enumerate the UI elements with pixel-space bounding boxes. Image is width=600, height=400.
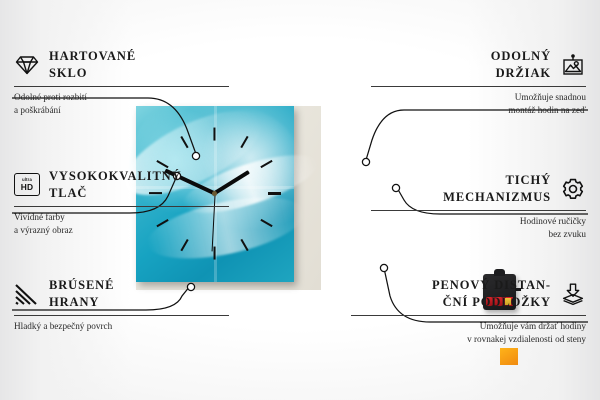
feature-description: Hladký a bezpečný povrch xyxy=(14,320,229,333)
clock-tick xyxy=(240,239,248,251)
divider xyxy=(14,86,229,87)
feature-title: ODOLNÝ DRŽIAK xyxy=(491,48,551,81)
feature-description: Umožňuje snadnou montáž hodin na zeď xyxy=(371,91,586,117)
clock-tick xyxy=(213,127,215,140)
feature-high-quality-print: ultra HD VYSOKOKVALITNÝ TLAČ Vivídné far… xyxy=(14,168,229,237)
divider xyxy=(14,315,229,316)
feature-header: ODOLNÝ DRŽIAK xyxy=(371,48,586,81)
clock-tick xyxy=(260,219,272,227)
connector-dot-durable-hanger xyxy=(362,158,369,165)
framed-picture-icon xyxy=(560,53,586,77)
feature-title: VYSOKOKVALITNÝ TLAČ xyxy=(49,168,182,201)
press-layers-icon xyxy=(560,282,586,306)
feature-header: PENOVÝ DISTAN- ČNÍ PODLOŽKY xyxy=(351,277,586,310)
clock-tick xyxy=(268,192,281,194)
diamond-icon xyxy=(14,53,40,77)
clock-tick xyxy=(157,160,169,168)
feature-description: Umožňuje vám držať hodiny v rovnakej vzd… xyxy=(351,320,586,346)
feature-title: TICHÝ MECHANIZMUS xyxy=(443,172,551,205)
feature-silent-mechanism: TICHÝ MECHANIZMUS Hodinové ručičky bez z… xyxy=(371,172,586,241)
infographic-canvas: HARTOVANÉ SKLO Odolné proti rozbití a po… xyxy=(0,0,600,400)
feature-header: BRÚSENÉ HRANY xyxy=(14,277,229,310)
feature-tempered-glass: HARTOVANÉ SKLO Odolné proti rozbití a po… xyxy=(14,48,229,117)
clock-tick xyxy=(213,246,215,259)
connector-dot-foam-spacers xyxy=(380,264,387,271)
divider xyxy=(14,206,229,207)
feature-header: ultra HD VYSOKOKVALITNÝ TLAČ xyxy=(14,168,229,201)
diagonal-stripes-icon xyxy=(14,282,40,306)
feature-foam-spacers: PENOVÝ DISTAN- ČNÍ PODLOŽKY Umožňuje vám… xyxy=(351,277,586,346)
clock-tick xyxy=(240,136,248,148)
feature-title: BRÚSENÉ HRANY xyxy=(49,277,114,310)
feature-ground-edges: BRÚSENÉ HRANY Hladký a bezpečný povrch xyxy=(14,277,229,333)
ultra-hd-icon: ultra HD xyxy=(14,173,40,197)
divider xyxy=(351,315,586,316)
movement-hanger-tab xyxy=(494,269,505,276)
feature-title: PENOVÝ DISTAN- ČNÍ PODLOŽKY xyxy=(432,277,551,310)
feature-description: Odolné proti rozbití a poškrábání xyxy=(14,91,229,117)
feature-header: TICHÝ MECHANIZMUS xyxy=(371,172,586,205)
clock-tick xyxy=(181,239,189,251)
feature-description: Vivídné farby a výrazný obraz xyxy=(14,211,229,237)
foam-spacer-pad xyxy=(500,348,518,365)
feature-title: HARTOVANÉ SKLO xyxy=(49,48,136,81)
feature-header: HARTOVANÉ SKLO xyxy=(14,48,229,81)
gear-icon xyxy=(560,177,586,201)
divider xyxy=(371,210,586,211)
feature-durable-hanger: ODOLNÝ DRŽIAK Umožňuje snadnou montáž ho… xyxy=(371,48,586,117)
divider xyxy=(371,86,586,87)
connector-durable-hanger xyxy=(366,110,588,160)
clock-tick xyxy=(181,136,189,148)
feature-description: Hodinové ručičky bez zvuku xyxy=(371,215,586,241)
clock-tick xyxy=(260,160,272,168)
